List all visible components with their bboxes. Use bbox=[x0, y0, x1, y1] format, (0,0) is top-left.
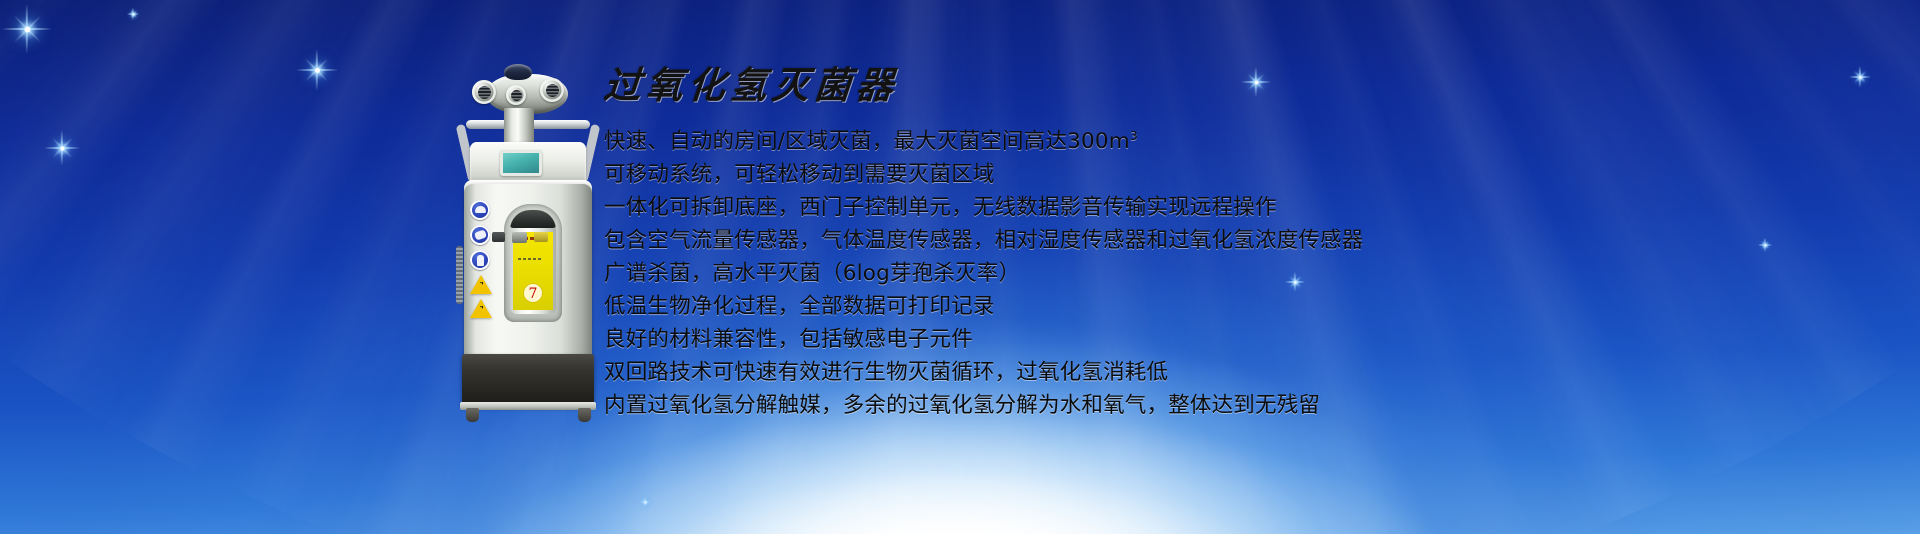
front-port-grey bbox=[512, 232, 527, 243]
page-title: 过氧化氢灭菌器 bbox=[602, 62, 900, 108]
bottle-label: 7 bbox=[513, 232, 553, 310]
feature-line: 一体化可拆卸底座，西门子控制单元，无线数据影音传输实现远程操作 bbox=[604, 191, 1894, 224]
banner-text-block: 过氧化氢灭菌器 快速、自动的房间/区域灭菌，最大灭菌空间高达300m3可移动系统… bbox=[604, 62, 1894, 422]
product-banner: 7 过氧化氢灭菌器 快速、自动的房间/区域灭菌，最大灭菌空间高达300m3可移动… bbox=[0, 0, 1920, 534]
front-port-yellow bbox=[534, 232, 548, 242]
sparkle-star-icon bbox=[296, 49, 338, 91]
nozzle-neck bbox=[504, 108, 534, 142]
title-row: 过氧化氢灭菌器 bbox=[604, 62, 1894, 114]
spray-nozzle-left bbox=[472, 80, 496, 104]
sparkle-star-icon bbox=[127, 8, 139, 20]
sparkle-star-icon bbox=[44, 130, 80, 166]
cabinet-base bbox=[462, 354, 594, 406]
feature-superscript: 3 bbox=[1130, 129, 1138, 143]
front-port-black bbox=[492, 232, 505, 242]
caster-wheel-right bbox=[578, 408, 591, 422]
hazard-warning-icon-2 bbox=[470, 299, 492, 318]
warning-label-group bbox=[470, 200, 496, 323]
lcd-display bbox=[500, 150, 542, 176]
feature-text: 快速、自动的房间/区域灭菌，最大灭菌空间高达300m bbox=[604, 129, 1130, 154]
peroxide-bottle: 7 bbox=[510, 210, 556, 314]
feature-text: 双回路技术可快速有效进行生物灭菌循环，过氧化氢消耗低 bbox=[604, 360, 1168, 385]
feature-text: 广谱杀菌，高水平灭菌（6log芽孢杀灭率） bbox=[604, 261, 1020, 286]
feature-text: 可移动系统，可轻松移动到需要灭菌区域 bbox=[604, 162, 995, 187]
feature-text: 一体化可拆卸底座，西门子控制单元，无线数据影音传输实现远程操作 bbox=[604, 195, 1277, 220]
feature-line: 广谱杀菌，高水平灭菌（6log芽孢杀灭率） bbox=[604, 257, 1894, 290]
spray-nozzle-right bbox=[540, 78, 564, 102]
nozzle-head-dome bbox=[504, 64, 532, 80]
feature-line: 低温生物净化过程，全部数据可打印记录 bbox=[604, 290, 1894, 323]
feature-line: 良好的材料兼容性，包括敏感电子元件 bbox=[604, 323, 1894, 356]
feature-line: 可移动系统，可轻松移动到需要灭菌区域 bbox=[604, 158, 1894, 191]
bottle-cap bbox=[510, 210, 556, 228]
eye-protection-icon bbox=[470, 200, 490, 220]
feature-text: 良好的材料兼容性，包括敏感电子元件 bbox=[604, 327, 973, 352]
sparkle-star-icon bbox=[640, 497, 650, 507]
feature-list: 快速、自动的房间/区域灭菌，最大灭菌空间高达300m3可移动系统，可轻松移动到需… bbox=[604, 120, 1894, 422]
feature-line: 快速、自动的房间/区域灭菌，最大灭菌空间高达300m3 bbox=[604, 120, 1894, 158]
bottle-number-badge: 7 bbox=[523, 283, 543, 303]
bottle-label-line-2 bbox=[518, 258, 541, 260]
feature-line: 包含空气流量传感器，气体温度传感器，相对湿度传感器和过氧化氢浓度传感器 bbox=[604, 224, 1894, 257]
caster-wheel-left bbox=[466, 408, 479, 422]
protective-gloves-icon bbox=[470, 250, 490, 270]
spray-nozzle-center bbox=[506, 85, 526, 105]
respirator-mask-icon bbox=[470, 225, 490, 245]
feature-text: 内置过氧化氢分解触媒，多余的过氧化氢分解为水和氧气，整体达到无残留 bbox=[604, 393, 1320, 418]
product-image-sterilizer: 7 bbox=[442, 58, 612, 376]
feature-line: 内置过氧化氢分解触媒，多余的过氧化氢分解为水和氧气，整体达到无残留 bbox=[604, 389, 1894, 422]
feature-text: 包含空气流量传感器，气体温度传感器，相对湿度传感器和过氧化氢浓度传感器 bbox=[604, 228, 1364, 253]
sparkle-star-icon bbox=[2, 4, 52, 54]
base-lip bbox=[460, 402, 596, 410]
feature-text: 低温生物净化过程，全部数据可打印记录 bbox=[604, 294, 995, 319]
feature-line: 双回路技术可快速有效进行生物灭菌循环，过氧化氢消耗低 bbox=[604, 356, 1894, 389]
hazard-warning-icon-1 bbox=[470, 275, 492, 294]
side-vent-grille bbox=[456, 246, 463, 304]
